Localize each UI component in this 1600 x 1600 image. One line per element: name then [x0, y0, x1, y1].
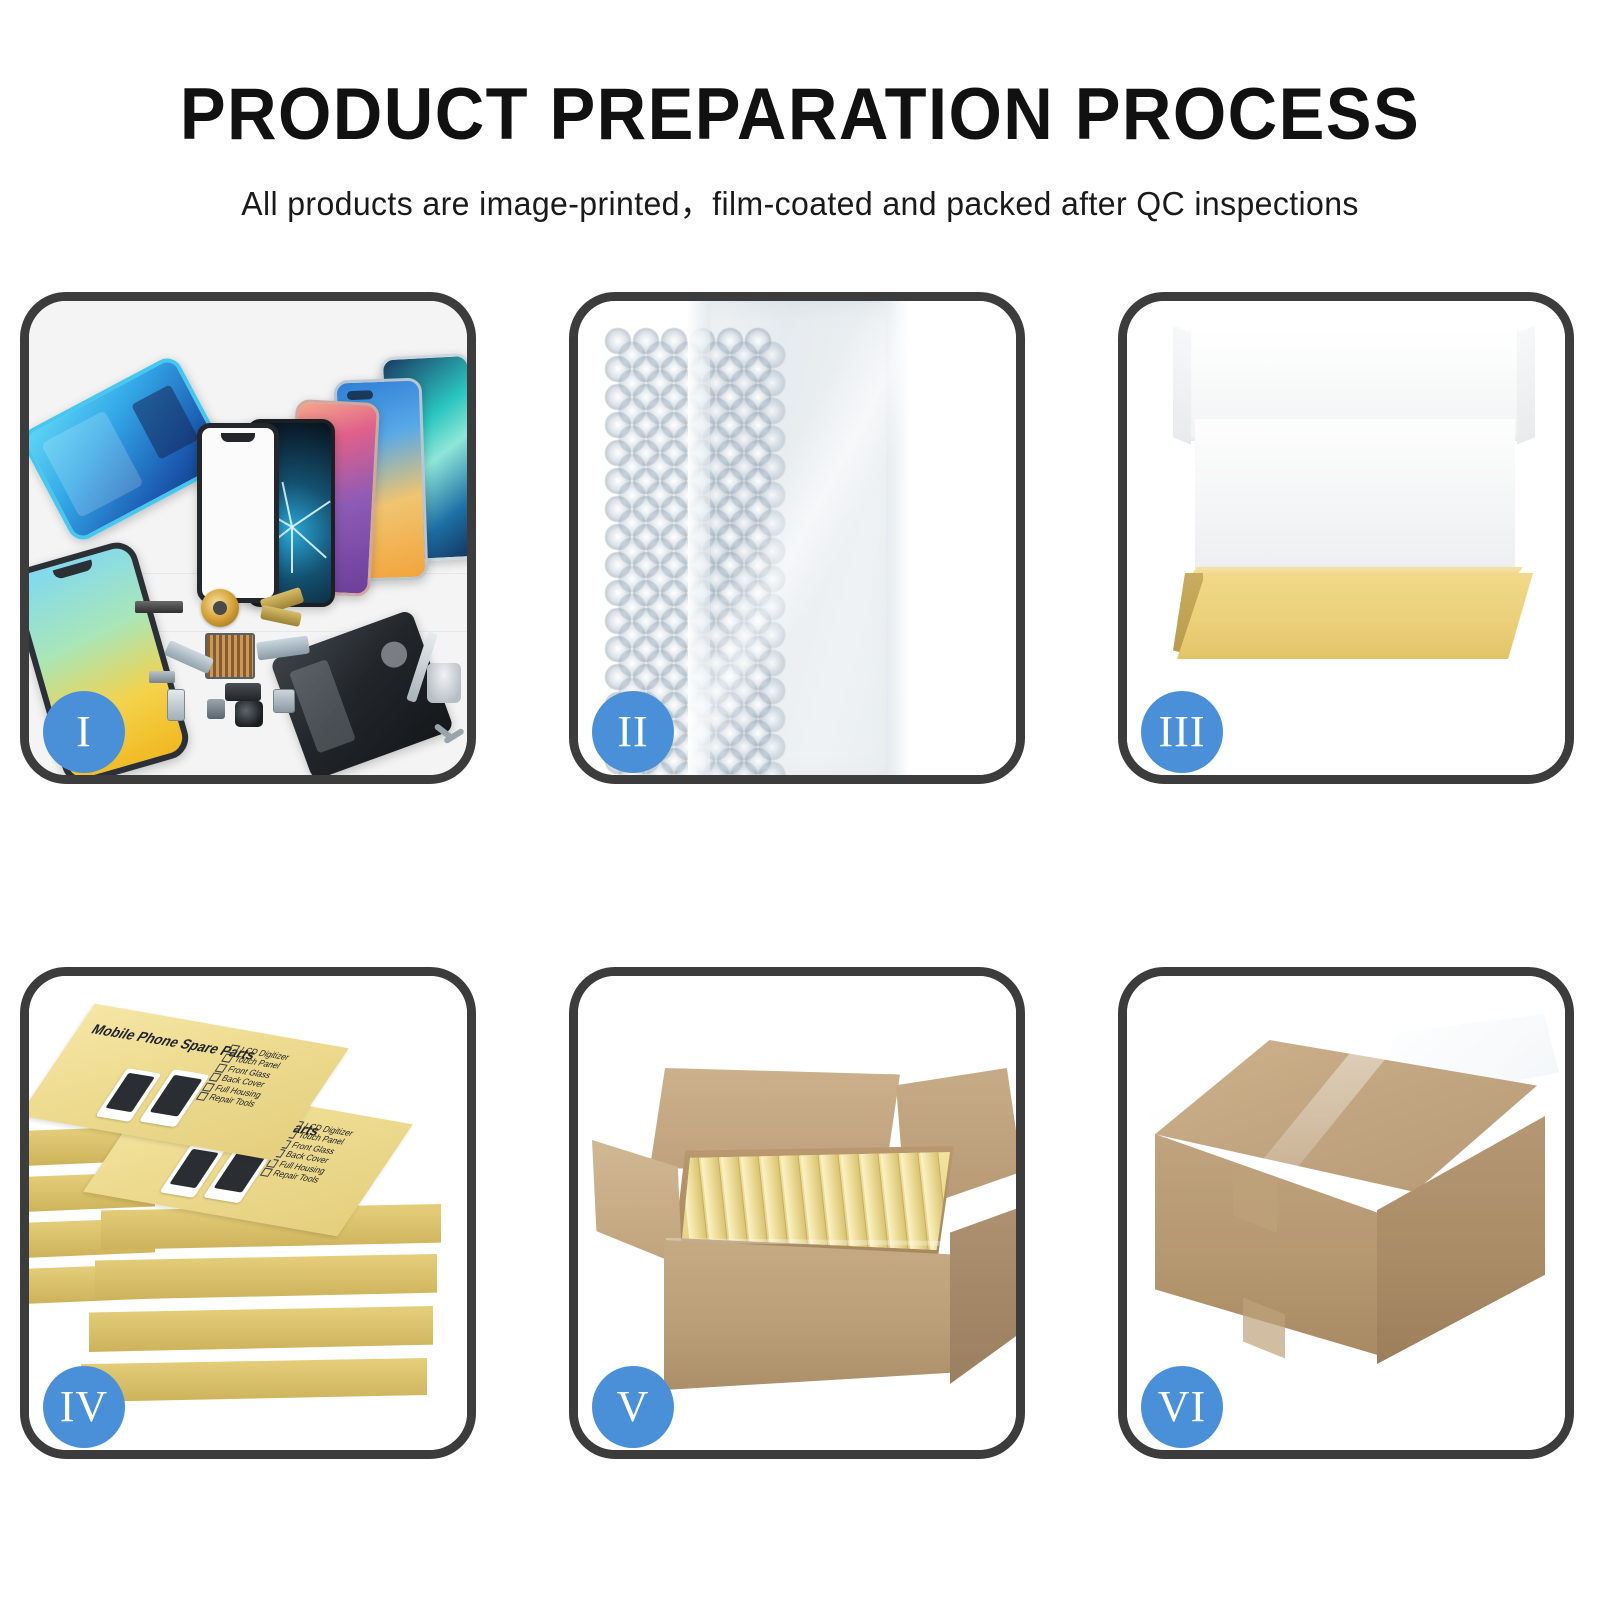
- part-earpiece-mesh-icon: [135, 601, 183, 613]
- step-badge-1: I: [43, 691, 125, 773]
- page-subtitle: All products are image-printed，film-coat…: [24, 177, 1576, 225]
- step-badge-3: III: [1141, 691, 1223, 773]
- part-sim-tray-icon: [167, 689, 185, 721]
- retail-box-side: [89, 1306, 433, 1352]
- process-step-grid: I II III: [20, 292, 1586, 1459]
- pouch-sheen: [688, 301, 908, 775]
- gift-box-front-face: [1177, 573, 1533, 659]
- process-step-panel-3[interactable]: III: [1118, 292, 1574, 784]
- process-step-panel-6[interactable]: VI: [1118, 967, 1574, 1459]
- process-step-panel-5[interactable]: V: [569, 967, 1025, 1459]
- process-step-panel-2[interactable]: II: [569, 292, 1025, 784]
- part-speaker-icon: [225, 683, 261, 701]
- step-badge-6: VI: [1141, 1366, 1223, 1448]
- step-badge-5: V: [592, 1366, 674, 1448]
- retail-box-side: [95, 1254, 437, 1300]
- tool-brush-icon: [427, 663, 461, 703]
- part-vibrator-icon: [207, 699, 225, 719]
- retail-box-side: [81, 1358, 427, 1402]
- carton-front-face: [664, 1240, 964, 1390]
- process-step-panel-1[interactable]: I: [20, 292, 476, 784]
- part-button-icon: [273, 689, 295, 713]
- carton-contents-retail-boxes: [682, 1152, 950, 1250]
- part-wireless-coil-icon: [201, 589, 239, 627]
- page-header: PRODUCT PREPARATION PROCESS All products…: [0, 0, 1600, 225]
- phone-front-glass-icon: [197, 423, 279, 603]
- process-step-panel-4[interactable]: Mobile Phone Spare Parts LCD Digitizer T…: [20, 967, 476, 1459]
- part-chip-icon: [205, 633, 255, 679]
- step-badge-2: II: [592, 691, 674, 773]
- part-camera-module-icon: [235, 701, 263, 727]
- page-title: PRODUCT PREPARATION PROCESS: [48, 78, 1552, 151]
- step-badge-4: IV: [43, 1366, 125, 1448]
- part-connector-icon: [149, 671, 175, 683]
- gift-box-inner-wall: [1195, 419, 1515, 571]
